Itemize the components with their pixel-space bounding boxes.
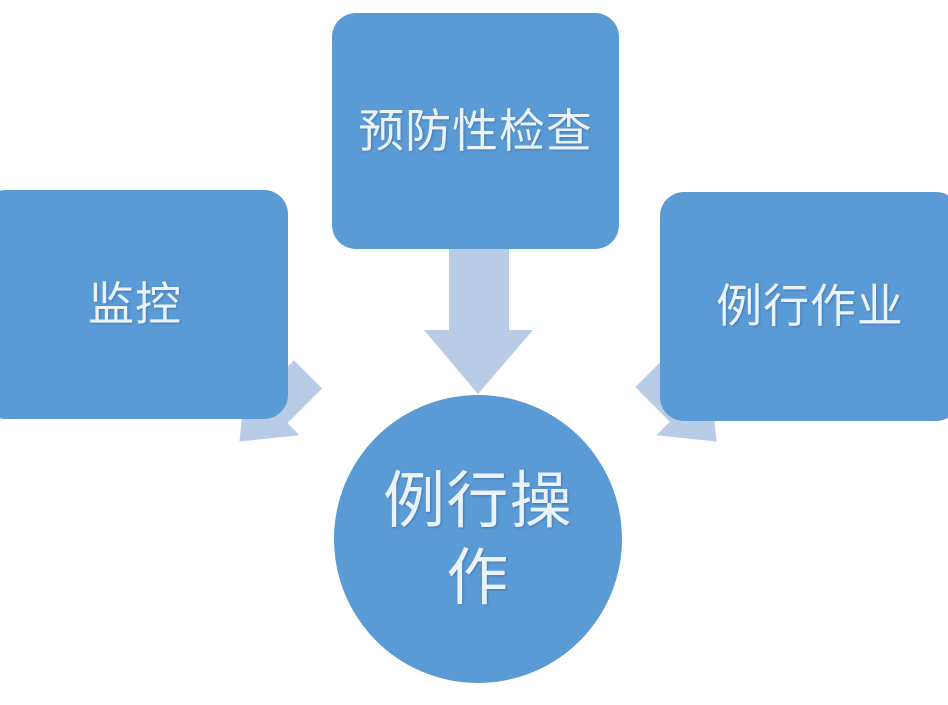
node-monitoring[interactable]: 监控 [0,190,288,419]
diagram-canvas: 监控 预防性检查 例行作业 例行操作 [0,0,948,705]
node-preventive-inspection[interactable]: 预防性检查 [332,13,619,249]
node-routine-task[interactable]: 例行作业 [660,192,948,421]
node-routine-operation-label: 例行操作 [364,462,592,617]
node-routine-operation[interactable]: 例行操作 [334,395,622,683]
arrow-preventive-inspection-to-routine-operation [424,248,533,394]
node-preventive-inspection-label: 预防性检查 [344,105,607,158]
node-monitoring-label: 监控 [74,278,196,331]
node-routine-task-label: 例行作业 [702,280,918,333]
